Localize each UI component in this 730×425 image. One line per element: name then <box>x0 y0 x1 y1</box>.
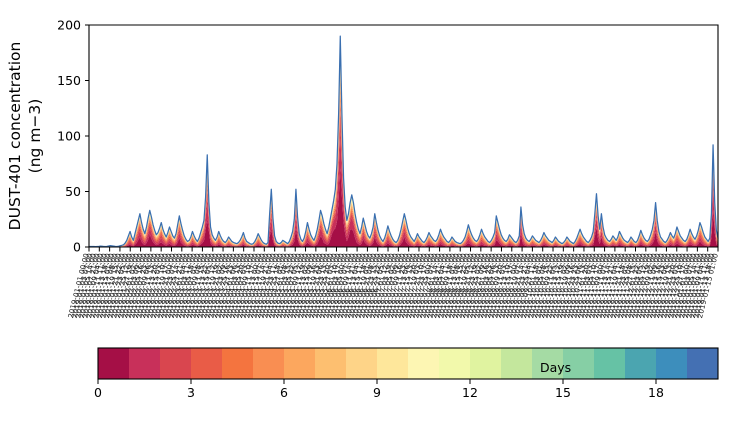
top-mask <box>0 0 730 25</box>
colorbar-band-16[interactable] <box>594 348 625 379</box>
colorbar-band-0[interactable] <box>98 348 129 379</box>
y-tick-label: 0 <box>73 240 81 255</box>
y-tick-label: 100 <box>57 129 81 144</box>
y-tick-label: 50 <box>65 184 81 199</box>
colorbar-band-4[interactable] <box>222 348 253 379</box>
y-tick-label: 150 <box>57 73 81 88</box>
colorbar-band-18[interactable] <box>656 348 687 379</box>
colorbar-tick-label: 3 <box>187 385 195 400</box>
figure-canvas: Age contribution to DUST-401 concentrati… <box>0 0 730 425</box>
colorbar-band-19[interactable] <box>687 348 718 379</box>
colorbar-band-11[interactable] <box>439 348 470 379</box>
colorbar-band-12[interactable] <box>470 348 501 379</box>
colorbar-band-5[interactable] <box>253 348 284 379</box>
colorbar-band-2[interactable] <box>160 348 191 379</box>
colorbar-tick-label: 9 <box>373 385 381 400</box>
y-axis-label-line2: (ng m−3) <box>26 99 44 174</box>
colorbar-band-3[interactable] <box>191 348 222 379</box>
colorbar-band-1[interactable] <box>129 348 160 379</box>
colorbar-band-7[interactable] <box>315 348 346 379</box>
colorbar-band-13[interactable] <box>501 348 532 379</box>
y-axis-label-line1: DUST-401 concentration <box>6 42 24 231</box>
colorbar-band-10[interactable] <box>408 348 439 379</box>
colorbar-band-9[interactable] <box>377 348 408 379</box>
colorbar-tick-label: 18 <box>648 385 664 400</box>
colorbar-label: Days <box>540 360 571 375</box>
colorbar-tick-label: 0 <box>94 385 102 400</box>
colorbar-tick-label: 15 <box>555 385 571 400</box>
colorbar[interactable] <box>98 348 718 379</box>
colorbar-band-6[interactable] <box>284 348 315 379</box>
colorbar-band-17[interactable] <box>625 348 656 379</box>
y-tick-label: 200 <box>57 18 81 33</box>
x-axis-date-labels: 2019-01-01 00:002019-01-03 07:002019-01-… <box>66 252 720 319</box>
colorbar-band-8[interactable] <box>346 348 377 379</box>
colorbar-tick-label: 12 <box>462 385 478 400</box>
colorbar-tick-label: 6 <box>280 385 288 400</box>
